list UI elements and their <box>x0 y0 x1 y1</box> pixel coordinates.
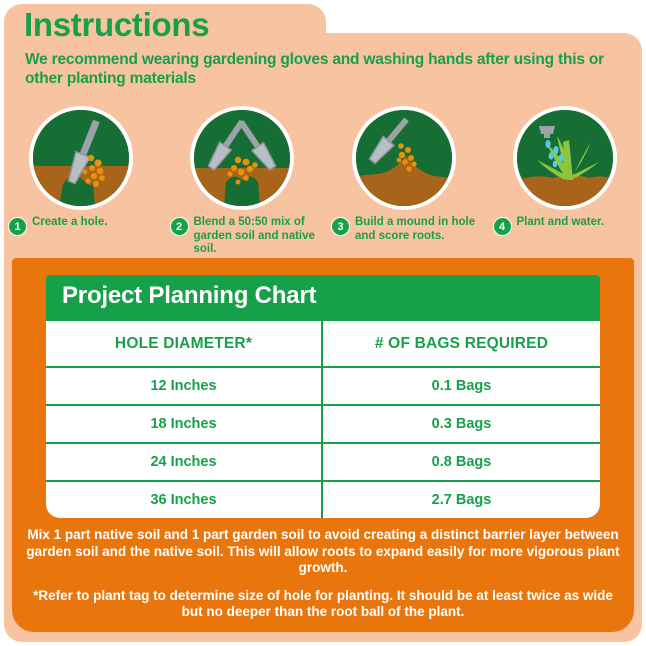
plant-watering-icon <box>517 110 613 206</box>
trowel-digging-hole-icon <box>33 110 129 206</box>
table-header-row: HOLE DIAMETER* # OF BAGS REQUIRED <box>46 319 600 366</box>
step-label: Create a hole. <box>32 216 107 230</box>
cell-bags-required: 2.7 Bags <box>323 482 600 518</box>
step-caption: 4 Plant and water. <box>493 216 643 236</box>
cell-hole-diameter: 24 Inches <box>46 444 323 480</box>
step-icon-frame <box>190 106 294 210</box>
table-row: 12 Inches 0.1 Bags <box>46 366 600 404</box>
steps-row: 1 Create a hole. <box>0 106 646 256</box>
table-row: 36 Inches 2.7 Bags <box>46 480 600 518</box>
step-caption: 2 Blend a 50:50 mix of garden soil and n… <box>170 216 320 257</box>
step-icon-frame <box>352 106 456 210</box>
step-label: Blend a 50:50 mix of garden soil and nat… <box>194 216 320 257</box>
cell-bags-required: 0.8 Bags <box>323 444 600 480</box>
step-number-badge: 2 <box>170 217 189 236</box>
step-caption: 3 Build a mound in hole and score roots. <box>331 216 481 243</box>
step-label: Plant and water. <box>517 216 605 230</box>
table-title: Project Planning Chart <box>46 275 600 319</box>
table-row: 24 Inches 0.8 Bags <box>46 442 600 480</box>
step-label: Build a mound in hole and score roots. <box>355 216 481 243</box>
step-number-badge: 1 <box>8 217 27 236</box>
cell-hole-diameter: 18 Inches <box>46 406 323 442</box>
step-item: 1 Create a hole. <box>0 106 162 256</box>
cell-hole-diameter: 12 Inches <box>46 368 323 404</box>
footnotes: Mix 1 part native soil and 1 part garden… <box>26 527 620 621</box>
cell-bags-required: 0.1 Bags <box>323 368 600 404</box>
project-planning-table: Project Planning Chart HOLE DIAMETER* # … <box>46 275 600 518</box>
table-row: 18 Inches 0.3 Bags <box>46 404 600 442</box>
trowel-building-mound-icon <box>356 110 452 206</box>
cell-hole-diameter: 36 Inches <box>46 482 323 518</box>
step-item: 4 Plant and water. <box>485 106 646 256</box>
step-number-badge: 3 <box>331 217 350 236</box>
step-item: 3 Build a mound in hole and score roots. <box>323 106 485 256</box>
step-item: 2 Blend a 50:50 mix of garden soil and n… <box>162 106 324 256</box>
cell-bags-required: 0.3 Bags <box>323 406 600 442</box>
step-icon-frame <box>513 106 617 210</box>
step-caption: 1 Create a hole. <box>8 216 158 236</box>
step-icon-frame <box>29 106 133 210</box>
two-trowels-blending-soil-icon <box>194 110 290 206</box>
footnote-hole-size: *Refer to plant tag to determine size of… <box>26 588 620 621</box>
header-subtitle: We recommend wearing gardening gloves an… <box>25 50 625 88</box>
step-number-badge: 4 <box>493 217 512 236</box>
instructions-poster: Instructions We recommend wearing garden… <box>0 0 646 646</box>
column-header-bags-required: # OF BAGS REQUIRED <box>323 321 600 366</box>
page-title: Instructions <box>24 6 209 44</box>
column-header-hole-diameter: HOLE DIAMETER* <box>46 321 323 366</box>
footnote-mixing-instructions: Mix 1 part native soil and 1 part garden… <box>26 527 620 577</box>
